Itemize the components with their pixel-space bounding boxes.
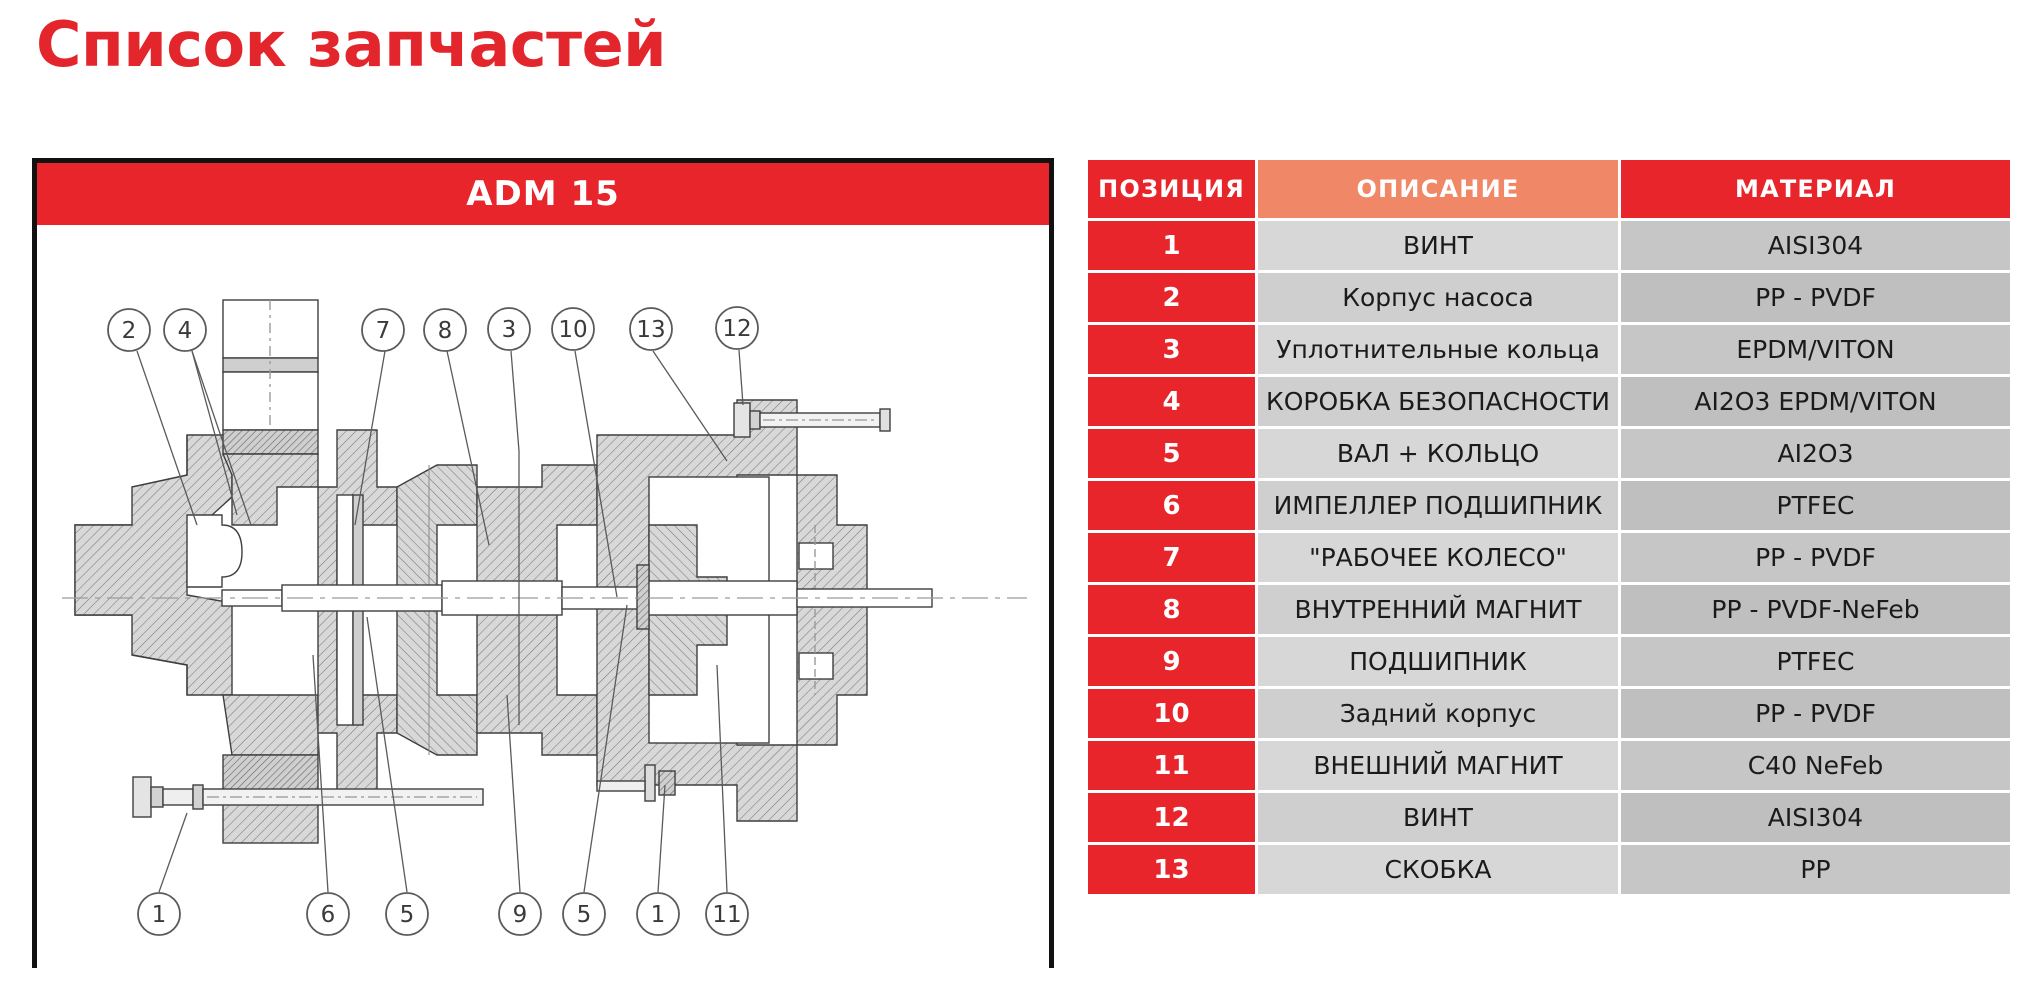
cell-description: ВНУТРЕННИЙ МАГНИТ <box>1258 585 1618 634</box>
cell-material: PP - PVDF <box>1621 533 2010 582</box>
cell-description: Уплотнительные кольца <box>1258 325 1618 374</box>
table-row: 9ПОДШИПНИКPTFEC <box>1088 637 2010 686</box>
cell-material: C40 NeFeb <box>1621 741 2010 790</box>
callout-bubble-3: 3 <box>488 308 530 350</box>
cell-description: ВНЕШНИЙ МАГНИТ <box>1258 741 1618 790</box>
callout-label: 11 <box>712 902 741 928</box>
callout-bubble-9: 9 <box>499 893 541 935</box>
cell-description: Корпус насоса <box>1258 273 1618 322</box>
table-body: 1ВИНТAISI3042Корпус насосаPP - PVDF3Упло… <box>1088 221 2010 894</box>
cell-position: 12 <box>1088 793 1255 842</box>
callout-bubble-13: 13 <box>630 308 672 350</box>
cell-description: ВИНТ <box>1258 793 1618 842</box>
cell-position: 1 <box>1088 221 1255 270</box>
callout-label: 1 <box>651 902 666 928</box>
cell-position: 10 <box>1088 689 1255 738</box>
pump-cross-section-drawing: 2478310131216595111 <box>37 225 1049 968</box>
callout-label: 3 <box>502 317 517 343</box>
table-row: 2Корпус насосаPP - PVDF <box>1088 273 2010 322</box>
cell-material: PP - PVDF-NeFeb <box>1621 585 2010 634</box>
callout-label: 2 <box>122 318 137 344</box>
table-row: 8ВНУТРЕННИЙ МАГНИТPP - PVDF-NeFeb <box>1088 585 2010 634</box>
callout-label: 4 <box>178 318 193 344</box>
cell-position: 4 <box>1088 377 1255 426</box>
cell-material: AISI304 <box>1621 221 2010 270</box>
callout-bubble-5: 5 <box>386 893 428 935</box>
callout-bubble-7: 7 <box>362 309 404 351</box>
callout-label: 7 <box>376 318 391 344</box>
cell-position: 2 <box>1088 273 1255 322</box>
diagram-canvas: 2478310131216595111 <box>37 225 1049 968</box>
table-row: 11ВНЕШНИЙ МАГНИТC40 NeFeb <box>1088 741 2010 790</box>
table-row: 5ВАЛ + КОЛЬЦОAI2O3 <box>1088 429 2010 478</box>
table-row: 12ВИНТAISI304 <box>1088 793 2010 842</box>
callout-bubble-4: 4 <box>164 309 206 351</box>
header-position: ПОЗИЦИЯ <box>1088 160 1255 218</box>
cell-material: PTFEC <box>1621 637 2010 686</box>
cell-position: 9 <box>1088 637 1255 686</box>
table-row: 7"РАБОЧЕЕ КОЛЕСО"PP - PVDF <box>1088 533 2010 582</box>
parts-list-page: Список запчастей ADM 15 <box>0 0 2042 1000</box>
cell-description: ПОДШИПНИК <box>1258 637 1618 686</box>
cell-material: AI2O3 EPDM/VITON <box>1621 377 2010 426</box>
callout-bubble-10: 10 <box>552 308 594 350</box>
callout-bubble-6: 6 <box>307 893 349 935</box>
cell-material: PP - PVDF <box>1621 273 2010 322</box>
cell-description: ИМПЕЛЛЕР ПОДШИПНИК <box>1258 481 1618 530</box>
cell-position: 5 <box>1088 429 1255 478</box>
cell-material: AISI304 <box>1621 793 2010 842</box>
callout-label: 1 <box>152 902 167 928</box>
callout-bubble-5: 5 <box>563 893 605 935</box>
cell-position: 3 <box>1088 325 1255 374</box>
diagram-panel: ADM 15 <box>32 158 1054 968</box>
table-row: 6ИМПЕЛЛЕР ПОДШИПНИКPTFEC <box>1088 481 2010 530</box>
diagram-model-banner: ADM 15 <box>37 163 1049 225</box>
page-title: Список запчастей <box>36 14 666 76</box>
callout-bubble-1: 1 <box>637 893 679 935</box>
cell-position: 6 <box>1088 481 1255 530</box>
cell-description: "РАБОЧЕЕ КОЛЕСО" <box>1258 533 1618 582</box>
table-header-row: ПОЗИЦИЯ ОПИСАНИЕ МАТЕРИАЛ <box>1088 160 2010 218</box>
cell-position: 11 <box>1088 741 1255 790</box>
callout-label: 5 <box>400 902 415 928</box>
table-row: 1ВИНТAISI304 <box>1088 221 2010 270</box>
callout-label: 6 <box>321 902 336 928</box>
cell-position: 8 <box>1088 585 1255 634</box>
cell-description: КОРОБКА БЕЗОПАСНОСТИ <box>1258 377 1618 426</box>
callout-bubble-1: 1 <box>138 893 180 935</box>
cell-material: PTFEC <box>1621 481 2010 530</box>
callout-bubble-12: 12 <box>716 307 758 349</box>
cell-description: СКОБКА <box>1258 845 1618 894</box>
cell-position: 7 <box>1088 533 1255 582</box>
table-row: 4КОРОБКА БЕЗОПАСНОСТИAI2O3 EPDM/VITON <box>1088 377 2010 426</box>
cell-material: AI2O3 <box>1621 429 2010 478</box>
parts-table: ПОЗИЦИЯ ОПИСАНИЕ МАТЕРИАЛ 1ВИНТAISI3042К… <box>1088 160 2010 897</box>
callout-label: 9 <box>513 902 528 928</box>
cell-description: ВАЛ + КОЛЬЦО <box>1258 429 1618 478</box>
cell-material: PP <box>1621 845 2010 894</box>
header-material: МАТЕРИАЛ <box>1621 160 2010 218</box>
header-description: ОПИСАНИЕ <box>1258 160 1618 218</box>
callout-label: 12 <box>722 316 751 342</box>
callout-bubble-8: 8 <box>424 309 466 351</box>
table-row: 10Задний корпусPP - PVDF <box>1088 689 2010 738</box>
callout-label: 10 <box>558 317 587 343</box>
callout-bubble-2: 2 <box>108 309 150 351</box>
cell-description: ВИНТ <box>1258 221 1618 270</box>
callout-label: 13 <box>636 317 665 343</box>
cell-description: Задний корпус <box>1258 689 1618 738</box>
cell-material: PP - PVDF <box>1621 689 2010 738</box>
callout-bubble-11: 11 <box>706 893 748 935</box>
cell-position: 13 <box>1088 845 1255 894</box>
cell-material: EPDM/VITON <box>1621 325 2010 374</box>
table-row: 3Уплотнительные кольцаEPDM/VITON <box>1088 325 2010 374</box>
callout-label: 8 <box>438 318 453 344</box>
table-row: 13СКОБКАPP <box>1088 845 2010 894</box>
callout-label: 5 <box>577 902 592 928</box>
